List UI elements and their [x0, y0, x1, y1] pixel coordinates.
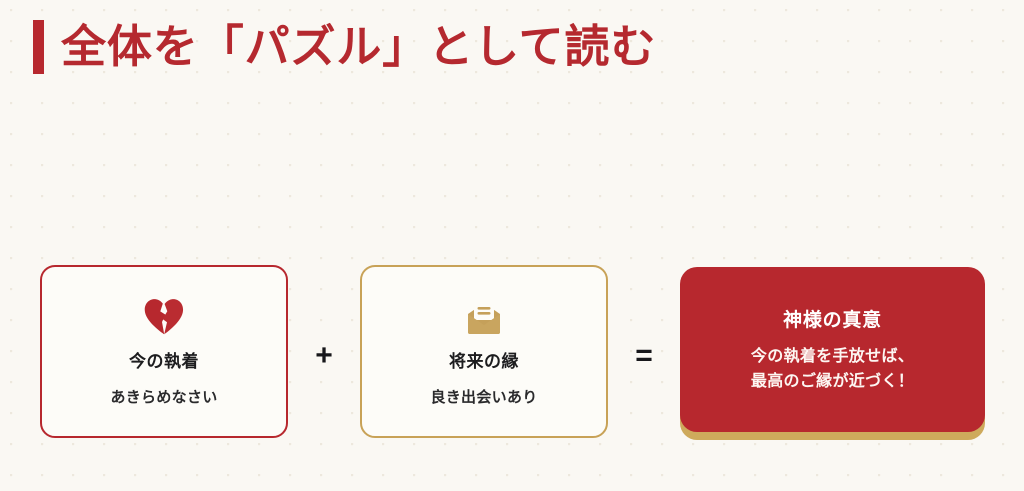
- card-current-attachment[interactable]: 今の執着 あきらめなさい: [40, 265, 288, 438]
- title-accent-bar: [33, 20, 44, 74]
- page-title-text: 全体を「パズル」として読む: [61, 22, 656, 72]
- card-title: 今の執着: [129, 347, 199, 372]
- result-card: 神様の真意 今の執着を手放せば、 最高のご縁が近づく！: [680, 267, 985, 432]
- page-title: 全体を「パズル」として読む: [33, 20, 656, 74]
- result-body: 今の執着を手放せば、 最高のご縁が近づく！: [751, 345, 914, 395]
- result-body-line-1: 今の執着を手放せば、: [751, 345, 914, 370]
- card-subtitle: あきらめなさい: [110, 386, 217, 407]
- slide-canvas: 全体を「パズル」として読む 今の執着 あきらめなさい +: [0, 0, 1024, 491]
- operator-equals: =: [608, 341, 680, 371]
- operator-plus: +: [288, 341, 360, 371]
- result-body-line-2: 最高のご縁が近づく！: [751, 370, 914, 395]
- open-envelope-icon: [463, 297, 505, 337]
- card-subtitle: 良き出会いあり: [430, 386, 537, 407]
- result-title: 神様の真意: [783, 305, 882, 332]
- card-title: 将来の縁: [449, 347, 519, 372]
- card-divine-intent[interactable]: 神様の真意 今の執着を手放せば、 最高のご縁が近づく！: [680, 267, 985, 440]
- card-future-bond[interactable]: 将来の縁 良き出会いあり: [360, 265, 608, 438]
- broken-heart-icon: [144, 297, 184, 337]
- equation-row: 今の執着 あきらめなさい + 将来の縁 良き出会いあり =: [40, 265, 986, 445]
